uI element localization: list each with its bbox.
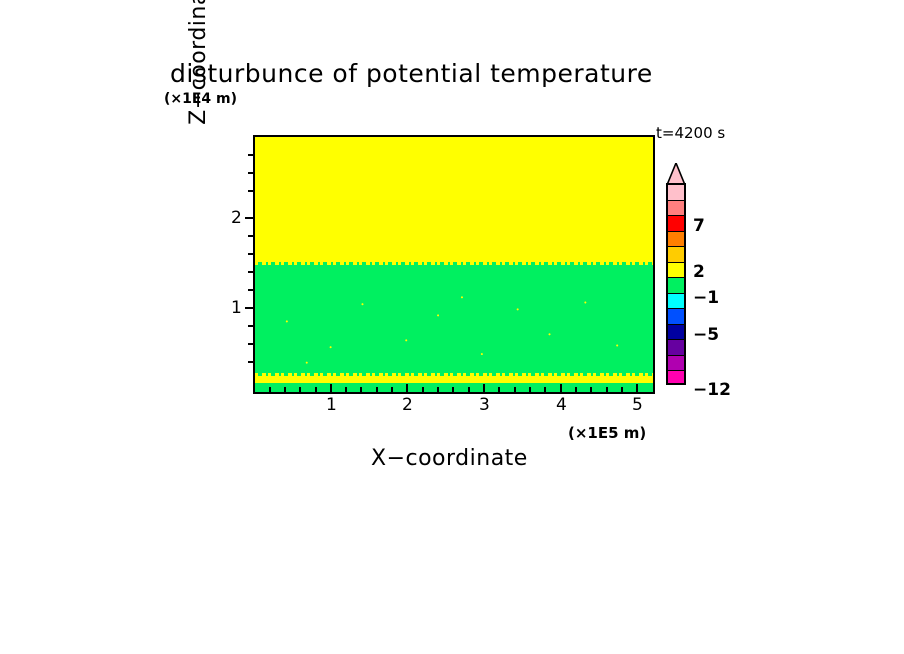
x-tick-minor xyxy=(575,387,577,392)
x-tick-minor xyxy=(391,387,393,392)
y-tick-minor xyxy=(248,154,253,156)
x-tick-minor xyxy=(606,387,608,392)
x-tick-minor xyxy=(284,387,286,392)
colorbar-band xyxy=(668,247,684,263)
x-tick-minor xyxy=(422,387,424,392)
x-tick-label: 5 xyxy=(632,395,643,415)
y-tick-major xyxy=(245,217,253,219)
colorbar-tick-label: 2 xyxy=(693,262,705,282)
region-middle-layer xyxy=(255,265,653,373)
x-tick-major xyxy=(330,384,332,392)
colorbar-band xyxy=(668,356,684,372)
colorbar-band xyxy=(668,201,684,217)
y-tick-label: 2 xyxy=(231,208,242,228)
x-tick-minor xyxy=(590,387,592,392)
colorbar-band xyxy=(668,340,684,356)
x-axis-label: X−coordinate xyxy=(371,446,528,471)
colorbar[interactable] xyxy=(666,183,686,385)
y-tick-minor xyxy=(248,235,253,237)
colorbar-band xyxy=(668,232,684,248)
colorbar-tick-label: −1 xyxy=(693,288,719,308)
x-tick-minor xyxy=(452,387,454,392)
region-upper-layer xyxy=(255,137,653,264)
y-tick-minor xyxy=(248,172,253,174)
x-tick-minor xyxy=(269,387,271,392)
time-annotation: t=4200 s xyxy=(656,124,725,142)
x-tick-minor xyxy=(437,387,439,392)
x-axis-unit-label: (×1E5 m) xyxy=(568,424,646,442)
colorbar-band xyxy=(668,185,684,201)
x-tick-minor xyxy=(529,387,531,392)
x-tick-minor xyxy=(468,387,470,392)
y-tick-minor xyxy=(248,289,253,291)
heatmap-field xyxy=(255,137,653,392)
y-tick-major xyxy=(245,307,253,309)
y-tick-minor xyxy=(248,325,253,327)
colorbar-band xyxy=(668,371,684,385)
x-tick-minor xyxy=(360,387,362,392)
x-tick-major xyxy=(560,384,562,392)
x-tick-minor xyxy=(544,387,546,392)
y-tick-label: 1 xyxy=(231,298,242,318)
x-tick-label: 2 xyxy=(402,395,413,415)
colorbar-tick-label: 7 xyxy=(693,216,705,236)
y-tick-minor xyxy=(248,253,253,255)
x-tick-minor xyxy=(345,387,347,392)
x-tick-minor xyxy=(621,387,623,392)
y-tick-minor xyxy=(248,343,253,345)
colorbar-band xyxy=(668,216,684,232)
colorbar-extend-arrow-icon xyxy=(666,163,686,185)
colorbar-band xyxy=(668,263,684,279)
x-tick-minor xyxy=(315,387,317,392)
x-tick-major xyxy=(406,384,408,392)
figure-canvas: disturbunce of potential temperature (×1… xyxy=(0,0,904,654)
x-tick-minor xyxy=(498,387,500,392)
x-tick-minor xyxy=(299,387,301,392)
colorbar-tick-label: −12 xyxy=(693,380,731,400)
colorbar-band xyxy=(668,325,684,341)
x-tick-label: 3 xyxy=(479,395,490,415)
x-tick-label: 4 xyxy=(556,395,567,415)
colorbar-band xyxy=(668,278,684,294)
page-title: disturbunce of potential temperature xyxy=(170,59,653,88)
plot-area xyxy=(253,135,655,394)
y-axis-label: Z−coordinate xyxy=(186,0,211,168)
x-tick-minor xyxy=(514,387,516,392)
x-tick-major xyxy=(636,384,638,392)
x-tick-major xyxy=(483,384,485,392)
y-tick-minor xyxy=(248,271,253,273)
x-tick-minor xyxy=(376,387,378,392)
y-tick-minor xyxy=(248,361,253,363)
colorbar-tick-label: −5 xyxy=(693,325,719,345)
colorbar-band xyxy=(668,309,684,325)
y-tick-minor xyxy=(248,190,253,192)
region-lower-stripe xyxy=(255,376,653,383)
colorbar-band xyxy=(668,294,684,310)
x-tick-label: 1 xyxy=(326,395,337,415)
